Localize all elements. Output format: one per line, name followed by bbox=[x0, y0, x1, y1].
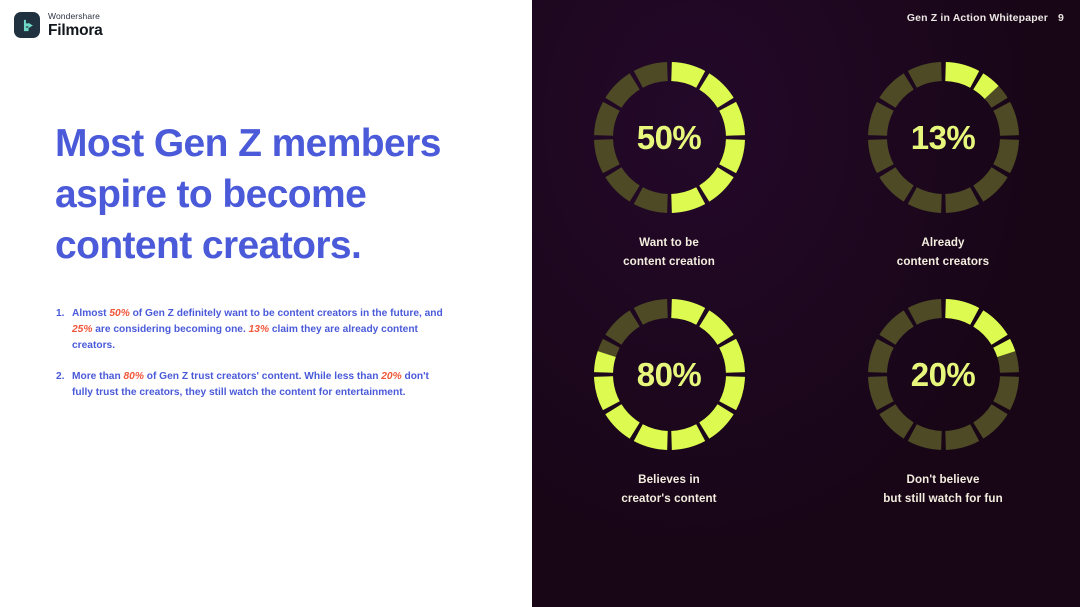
bullet-list: 1.Almost 50% of Gen Z definitely want to… bbox=[56, 306, 448, 415]
list-item-number: 1. bbox=[56, 306, 72, 355]
donut-caption: Want to becontent creation bbox=[623, 233, 715, 271]
donut-chart: 13% bbox=[862, 56, 1025, 219]
page-number: 9 bbox=[1058, 12, 1064, 24]
brand-top-line: Wondershare bbox=[48, 12, 103, 21]
list-item-text: Almost 50% of Gen Z definitely want to b… bbox=[72, 306, 448, 355]
filmora-play-icon bbox=[14, 12, 40, 38]
body-text-run: of Gen Z trust creators' content. While … bbox=[144, 371, 381, 382]
list-item-text: More than 80% of Gen Z trust creators' c… bbox=[72, 369, 448, 401]
donut-caption-line: creator's content bbox=[621, 489, 716, 508]
donut-caption-line: Don't believe bbox=[883, 470, 1003, 489]
stat-highlight: 25% bbox=[72, 324, 92, 335]
slide-root: Wondershare Filmora Most Gen Z members a… bbox=[0, 0, 1080, 607]
body-text-run: More than bbox=[72, 371, 124, 382]
donut-caption-line: Want to be bbox=[623, 233, 715, 252]
brand-logo: Wondershare Filmora bbox=[14, 12, 103, 38]
donut-value-label: 20% bbox=[862, 293, 1025, 456]
donut-caption-line: Already bbox=[897, 233, 989, 252]
donut-chart-cell: 20%Don't believebut still watch for fun bbox=[806, 293, 1080, 508]
page-title: Most Gen Z members aspire to become cont… bbox=[55, 118, 505, 271]
list-item-number: 2. bbox=[56, 369, 72, 401]
donut-value-label: 50% bbox=[588, 56, 751, 219]
right-chart-panel: Gen Z in Action Whitepaper 9 50%Want to … bbox=[532, 0, 1080, 607]
stat-highlight: 80% bbox=[124, 371, 144, 382]
donut-caption: Don't believebut still watch for fun bbox=[883, 470, 1003, 508]
donut-caption-line: but still watch for fun bbox=[883, 489, 1003, 508]
donut-chart: 20% bbox=[862, 293, 1025, 456]
body-text-run: of Gen Z definitely want to be content c… bbox=[130, 308, 443, 319]
brand-bottom-line: Filmora bbox=[48, 23, 103, 39]
brand-wordmark: Wondershare Filmora bbox=[48, 12, 103, 38]
donut-chart: 80% bbox=[588, 293, 751, 456]
donut-caption: Alreadycontent creators bbox=[897, 233, 989, 271]
stat-highlight: 13% bbox=[249, 324, 269, 335]
donut-value-label: 13% bbox=[862, 56, 1025, 219]
stat-highlight: 20% bbox=[381, 371, 401, 382]
stat-highlight: 50% bbox=[109, 308, 129, 319]
donut-chart-cell: 13%Alreadycontent creators bbox=[806, 56, 1080, 271]
donut-chart-grid: 50%Want to becontent creation13%Alreadyc… bbox=[532, 56, 1080, 508]
donut-chart-cell: 80%Believes increator's content bbox=[532, 293, 806, 508]
list-item: 1.Almost 50% of Gen Z definitely want to… bbox=[56, 306, 448, 355]
donut-caption-line: content creators bbox=[897, 252, 989, 271]
document-header: Gen Z in Action Whitepaper 9 bbox=[907, 12, 1064, 24]
header-title: Gen Z in Action Whitepaper bbox=[907, 12, 1048, 24]
donut-value-label: 80% bbox=[588, 293, 751, 456]
donut-caption-line: Believes in bbox=[621, 470, 716, 489]
body-text-run: Almost bbox=[72, 308, 109, 319]
donut-caption-line: content creation bbox=[623, 252, 715, 271]
donut-chart-cell: 50%Want to becontent creation bbox=[532, 56, 806, 271]
body-text-run: are considering becoming one. bbox=[92, 324, 248, 335]
list-item: 2.More than 80% of Gen Z trust creators'… bbox=[56, 369, 448, 401]
donut-chart: 50% bbox=[588, 56, 751, 219]
donut-caption: Believes increator's content bbox=[621, 470, 716, 508]
left-content-panel: Wondershare Filmora Most Gen Z members a… bbox=[0, 0, 532, 607]
